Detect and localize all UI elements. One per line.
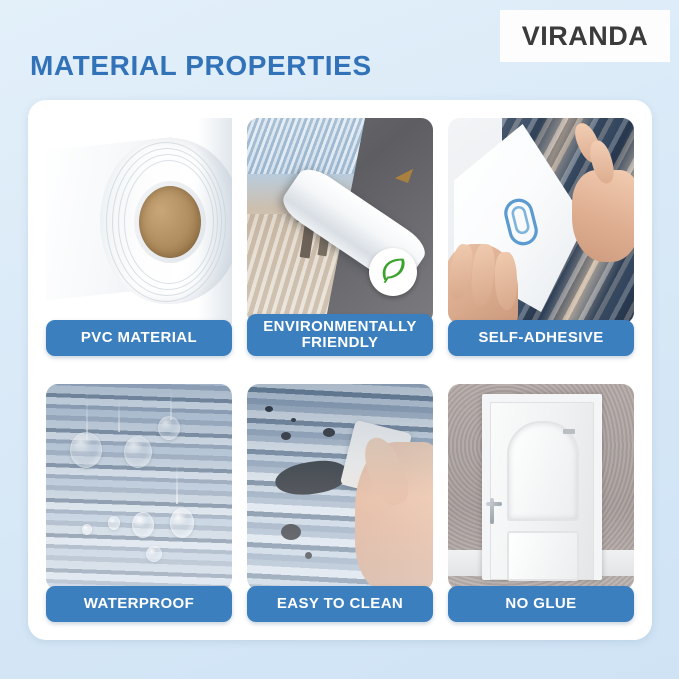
feature-label: NO GLUE	[448, 586, 634, 622]
peeling-beach-print-photo	[247, 118, 433, 324]
infographic-root: VIRANDA MATERIAL PROPERTIES PVC MATERIAL	[0, 0, 679, 679]
feature-label: ENVIRONMENTALLY FRIENDLY	[247, 314, 433, 356]
white-door-photo	[448, 384, 634, 590]
eco-badge	[369, 248, 417, 296]
sponge-wiping-stains-photo	[247, 384, 433, 590]
feature-card[interactable]: SELF-ADHESIVE	[448, 118, 634, 356]
door-handle-icon	[486, 498, 502, 524]
leaf-icon	[378, 255, 408, 290]
feature-card[interactable]: NO GLUE	[448, 384, 634, 622]
feature-grid: PVC MATERIAL	[46, 118, 634, 622]
feature-label: EASY TO CLEAN	[247, 586, 433, 622]
hands-peeling-marble-sheet-photo	[448, 118, 634, 324]
feature-label: WATERPROOF	[46, 586, 232, 622]
brand-name: VIRANDA	[522, 21, 649, 52]
feature-card[interactable]: PVC MATERIAL	[46, 118, 232, 356]
brand-logo-box: VIRANDA	[500, 10, 670, 62]
feature-card[interactable]: EASY TO CLEAN	[247, 384, 433, 622]
page-title: MATERIAL PROPERTIES	[30, 50, 372, 82]
feature-card[interactable]: WATERPROOF	[46, 384, 232, 622]
feature-card[interactable]: ENVIRONMENTALLY FRIENDLY	[247, 118, 433, 356]
pvc-roll-photo	[46, 118, 232, 324]
feature-label: PVC MATERIAL	[46, 320, 232, 356]
feature-label: SELF-ADHESIVE	[448, 320, 634, 356]
water-droplets-on-wood-photo	[46, 384, 232, 590]
